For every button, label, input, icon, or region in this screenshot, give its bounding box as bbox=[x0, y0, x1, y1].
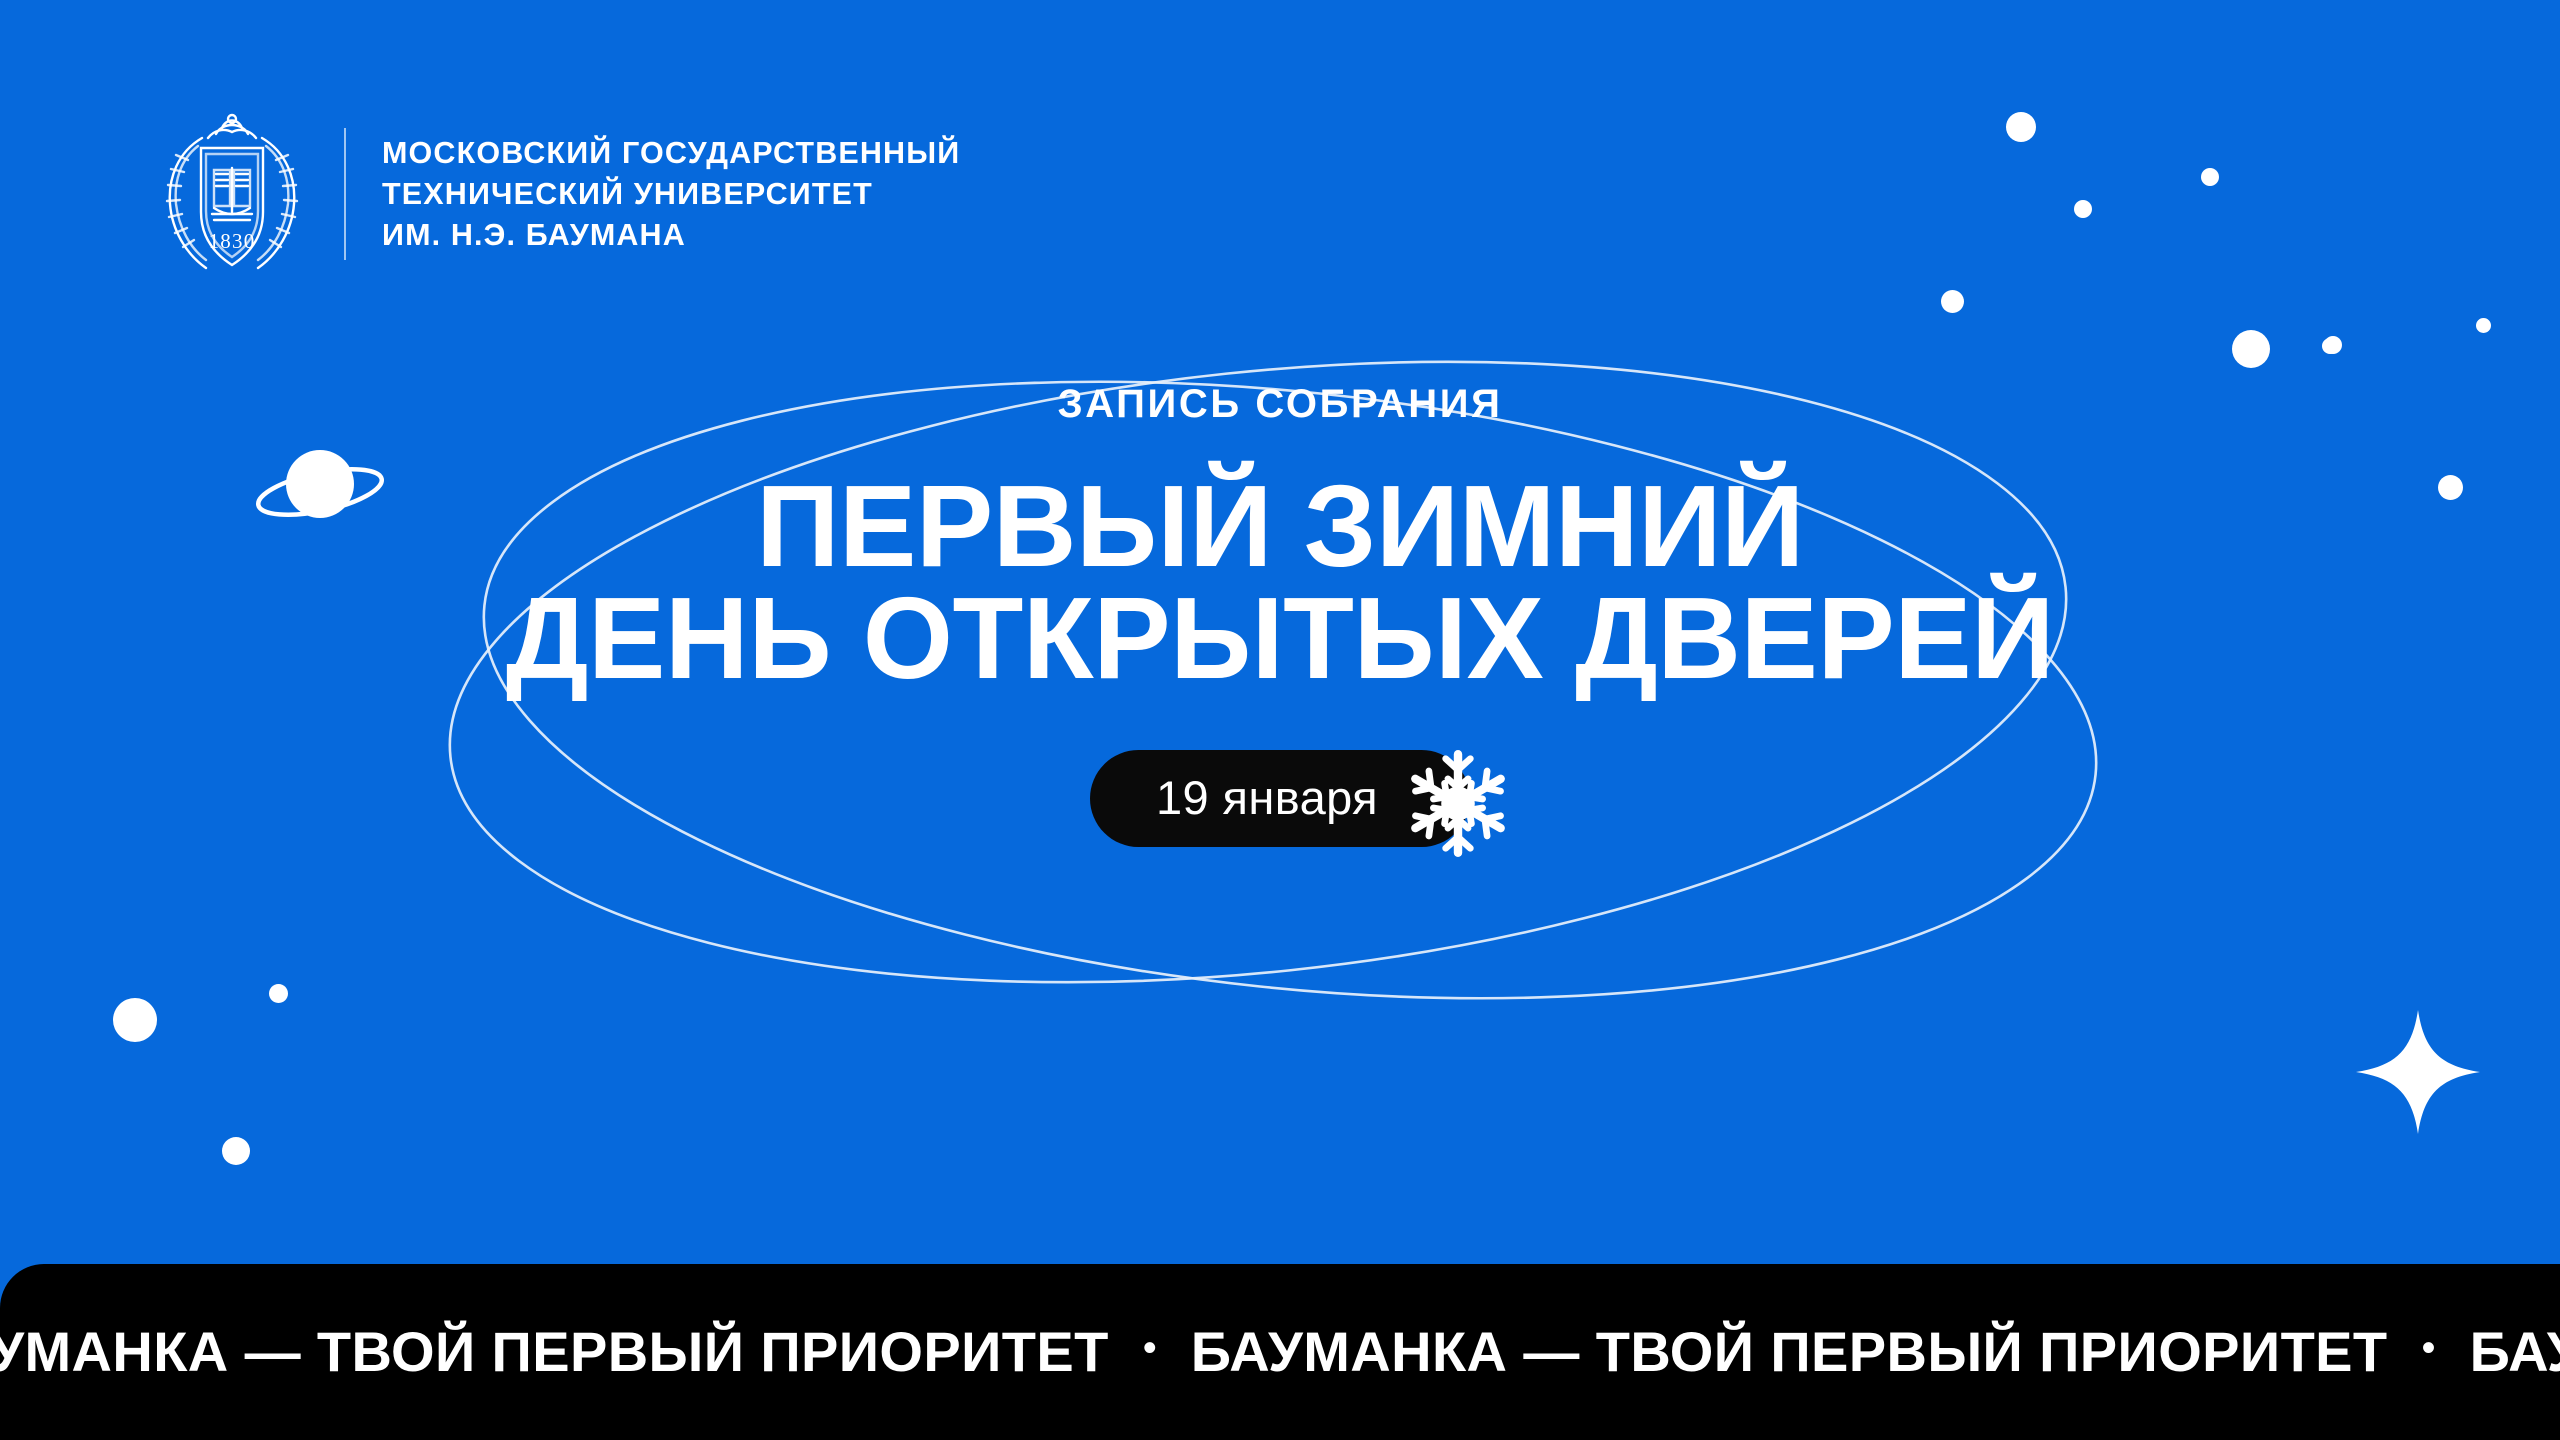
star-dot bbox=[222, 1137, 250, 1165]
university-name: МОСКОВСКИЙ ГОСУДАРСТВЕННЫЙ ТЕХНИЧЕСКИЙ У… bbox=[382, 133, 960, 256]
page-title-line-2: ДЕНЬ ОТКРЫТЫХ ДВЕРЕЙ bbox=[506, 582, 2054, 694]
star-dot bbox=[2324, 336, 2342, 354]
event-date-group[interactable]: 19 января bbox=[1090, 750, 1470, 847]
snowflake-icon bbox=[1402, 747, 1514, 859]
star-dot bbox=[2006, 112, 2036, 142]
marquee-separator-icon: • bbox=[2388, 1328, 2470, 1376]
star-dot bbox=[2201, 168, 2219, 186]
marquee-item: БАУМАНКА — ТВОЙ ПЕРВЫЙ ПРИОРИТЕТ bbox=[1191, 1324, 2388, 1380]
bmstu-crest-icon: 1830 bbox=[148, 108, 316, 280]
university-name-line-2: ТЕХНИЧЕСКИЙ УНИВЕРСИТЕТ bbox=[382, 174, 960, 215]
university-name-line-3: ИМ. Н.Э. БАУМАНА bbox=[382, 215, 960, 256]
logo-divider bbox=[344, 128, 346, 260]
four-point-sparkle-icon bbox=[2356, 1010, 2480, 1134]
page-title: ПЕРВЫЙ ЗИМНИЙ ДЕНЬ ОТКРЫТЫХ ДВЕРЕЙ bbox=[506, 470, 2054, 694]
star-dot bbox=[1941, 290, 1964, 313]
banner-stage: 1830 МОСКОВСКИЙ ГОСУДАРСТВЕННЫЙ ТЕХНИЧЕС… bbox=[0, 0, 2560, 1440]
marquee-separator-icon: • bbox=[1109, 1328, 1191, 1376]
star-dot bbox=[2476, 318, 2491, 333]
marquee-track: БАУМАНКА — ТВОЙ ПЕРВЫЙ ПРИОРИТЕТ • БАУМА… bbox=[0, 1324, 2560, 1380]
university-logo[interactable]: 1830 МОСКОВСКИЙ ГОСУДАРСТВЕННЫЙ ТЕХНИЧЕС… bbox=[148, 108, 960, 280]
star-dot bbox=[269, 984, 288, 1003]
hero-content: ЗАПИСЬ СОБРАНИЯ ПЕРВЫЙ ЗИМНИЙ ДЕНЬ ОТКРЫ… bbox=[0, 384, 2560, 847]
star-dot bbox=[2322, 338, 2338, 354]
hero-eyebrow: ЗАПИСЬ СОБРАНИЯ bbox=[1058, 384, 1503, 424]
crest-year: 1830 bbox=[209, 229, 256, 253]
university-name-line-1: МОСКОВСКИЙ ГОСУДАРСТВЕННЫЙ bbox=[382, 133, 960, 174]
star-dot bbox=[2232, 330, 2270, 368]
marquee-item: БАУМАНКА — ТВОЙ ПЕРВЫЙ ПРИОРИТЕТ bbox=[2470, 1324, 2560, 1380]
star-dot bbox=[113, 998, 157, 1042]
star-dot bbox=[2074, 200, 2092, 218]
marquee-ticker: БАУМАНКА — ТВОЙ ПЕРВЫЙ ПРИОРИТЕТ • БАУМА… bbox=[0, 1264, 2560, 1440]
page-title-line-1: ПЕРВЫЙ ЗИМНИЙ bbox=[506, 470, 2054, 582]
marquee-item: БАУМАНКА — ТВОЙ ПЕРВЫЙ ПРИОРИТЕТ bbox=[0, 1324, 1109, 1380]
